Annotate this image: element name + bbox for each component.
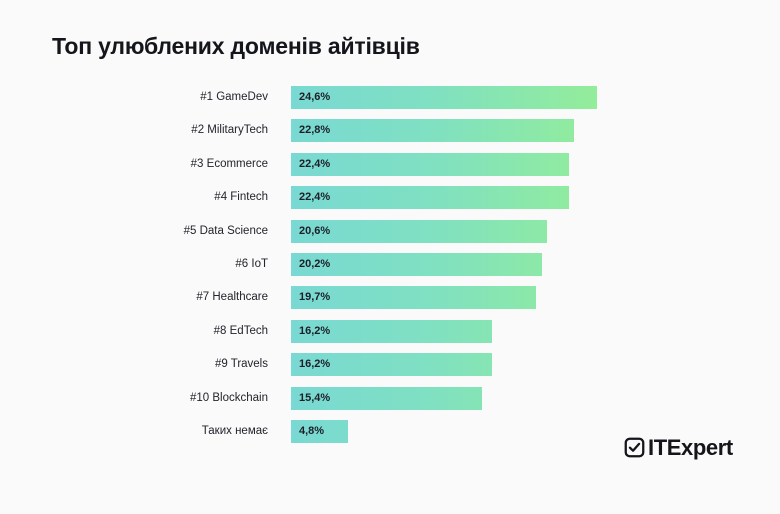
- bar: 20,6%: [291, 220, 547, 243]
- bar: 24,6%: [291, 86, 597, 109]
- bar-category-label: #8 EdTech: [214, 320, 268, 343]
- table-row: #4 Fintech 22,4%: [0, 186, 780, 209]
- bar-track: 22,4%: [291, 186, 780, 209]
- bar-value-label: 16,2%: [299, 353, 330, 376]
- bar-category-label: #2 MilitaryTech: [191, 119, 268, 142]
- bar-value-label: 15,4%: [299, 387, 330, 410]
- bar: 22,8%: [291, 119, 574, 142]
- chart-page: Топ улюблених доменів айтівців #1 GameDe…: [0, 0, 780, 514]
- bar-value-label: 22,8%: [299, 119, 330, 142]
- bar-value-label: 4,8%: [299, 420, 324, 443]
- table-row: #9 Travels 16,2%: [0, 353, 780, 376]
- table-row: #10 Blockchain 15,4%: [0, 387, 780, 410]
- table-row: #6 IoT 20,2%: [0, 253, 780, 276]
- bar-category-label: #1 GameDev: [200, 86, 268, 109]
- bar: 19,7%: [291, 286, 536, 309]
- table-row: #7 Healthcare 19,7%: [0, 286, 780, 309]
- bar-value-label: 20,2%: [299, 253, 330, 276]
- bar-category-label: #5 Data Science: [184, 220, 268, 243]
- bar: 16,2%: [291, 353, 492, 376]
- bar-value-label: 22,4%: [299, 186, 330, 209]
- bar: 16,2%: [291, 320, 492, 343]
- bar-value-label: 22,4%: [299, 153, 330, 176]
- table-row: #1 GameDev 24,6%: [0, 86, 780, 109]
- bar-value-label: 24,6%: [299, 86, 330, 109]
- bar-category-label: #6 IoT: [235, 253, 268, 276]
- bar-category-label: #7 Healthcare: [196, 286, 268, 309]
- bar: 4,8%: [291, 420, 348, 443]
- brand-logo: ITExpert: [624, 437, 733, 458]
- bar-value-label: 20,6%: [299, 220, 330, 243]
- bar-track: 15,4%: [291, 387, 780, 410]
- bar-value-label: 16,2%: [299, 320, 330, 343]
- bar-track: 16,2%: [291, 320, 780, 343]
- table-row: #3 Ecommerce 22,4%: [0, 153, 780, 176]
- table-row: #8 EdTech 16,2%: [0, 320, 780, 343]
- bar-value-label: 19,7%: [299, 286, 330, 309]
- brand-name: ITExpert: [648, 437, 733, 458]
- bar-category-label: #4 Fintech: [214, 186, 268, 209]
- table-row: #5 Data Science 20,6%: [0, 220, 780, 243]
- bar-track: 20,2%: [291, 253, 780, 276]
- bar-track: 20,6%: [291, 220, 780, 243]
- bar-category-label: #10 Blockchain: [190, 387, 268, 410]
- bar-category-label: #9 Travels: [215, 353, 268, 376]
- bar-track: 24,6%: [291, 86, 780, 109]
- bar-chart-plot-area: #1 GameDev 24,6% #2 MilitaryTech 22,8% #…: [0, 86, 780, 453]
- checkbox-check-icon: [624, 437, 645, 458]
- bar: 22,4%: [291, 153, 569, 176]
- bar: 20,2%: [291, 253, 542, 276]
- bar-track: 22,4%: [291, 153, 780, 176]
- table-row: #2 MilitaryTech 22,8%: [0, 119, 780, 142]
- bar-category-label: Таких немає: [202, 420, 268, 443]
- bar-category-label: #3 Ecommerce: [191, 153, 268, 176]
- bar-track: 19,7%: [291, 286, 780, 309]
- bar-track: 16,2%: [291, 353, 780, 376]
- bar: 15,4%: [291, 387, 482, 410]
- bar-track: 22,8%: [291, 119, 780, 142]
- page-title: Топ улюблених доменів айтівців: [52, 33, 420, 60]
- bar: 22,4%: [291, 186, 569, 209]
